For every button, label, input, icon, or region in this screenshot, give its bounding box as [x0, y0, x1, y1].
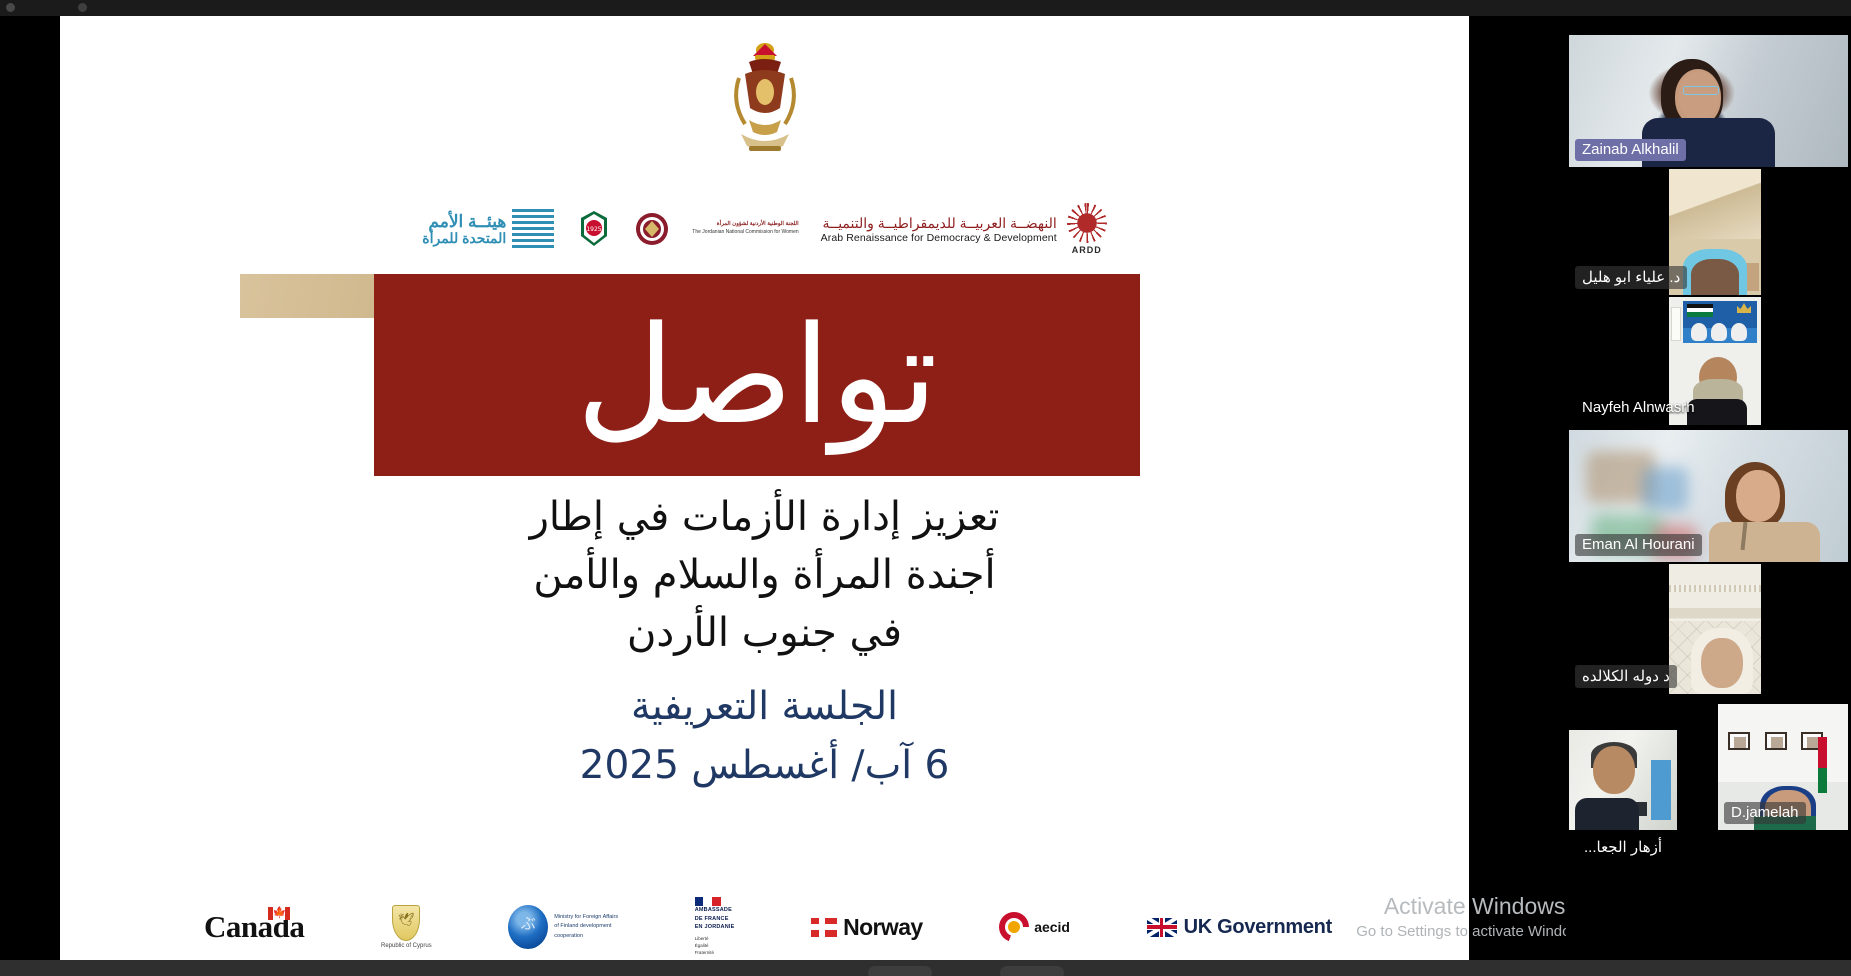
slide-session-block: الجلسة التعريفية 6 آب/ أغسطس 2025	[60, 678, 1469, 795]
window-bottom-chrome	[0, 960, 1851, 976]
avatar-face-highlight	[1678, 71, 1720, 121]
avatar-face	[1736, 470, 1780, 522]
donor-cyprus: Republic of Cyprus	[381, 905, 432, 949]
wall-paper-sheet	[1671, 307, 1681, 341]
participant-name-label: Eman Al Hourani	[1575, 534, 1702, 556]
session-date: 6 آب/ أغسطس 2025	[60, 737, 1469, 796]
canada-flag-icon: 🍁	[268, 907, 290, 920]
jordan-seal-logo: 1925	[576, 210, 612, 248]
background-panel	[1651, 760, 1671, 820]
poster-portrait-1	[1691, 323, 1707, 341]
taskbar-pill-right[interactable]	[1000, 966, 1064, 976]
france-line-3: EN JORDANIE	[695, 923, 735, 932]
ardd-acronym: ARDD	[1067, 245, 1107, 255]
ardd-sun-icon	[1067, 203, 1107, 243]
france-flag-icon	[695, 897, 721, 906]
donor-finland-dev: Ministry for Foreign Affairs of Finland …	[508, 905, 618, 949]
donor-cyprus-caption: Republic of Cyprus	[381, 943, 432, 949]
donor-logo-strip: Canada 🍁 Republic of Cyprus M	[178, 896, 1358, 958]
jordan-royal-coat-of-arms-icon	[719, 38, 811, 156]
finland-dev-mark-icon	[508, 905, 548, 949]
cyprus-shield-icon	[392, 905, 420, 941]
participant-rail[interactable]: Zainab Alkhalil د. علياء ابو هليل	[1566, 32, 1851, 976]
un-women-logo: هيئــة الأمم المتحدة للمرأة	[422, 209, 554, 249]
donor-canada: Canada 🍁	[204, 909, 304, 945]
jncw-english-name: The Jordanian National Commission for Wo…	[692, 229, 798, 236]
participant-tile-jamelah[interactable]: D.jamelah	[1718, 704, 1848, 830]
avatar-face	[1691, 259, 1739, 295]
jncw-arabic-name: اللجنة الوطنية الأردنية لشؤون المرأة	[692, 221, 798, 229]
un-women-label-line2: المتحدة للمرأة	[422, 231, 506, 247]
un-women-mark-icon	[512, 209, 554, 249]
participant-tile-dawla[interactable]: د دوله الكلالده	[1569, 564, 1848, 694]
ardd-logo: النهضــة العربيــة للديمقراطيــة والتنمي…	[821, 203, 1107, 255]
donor-uk-label: UK Government	[1184, 916, 1332, 939]
slide-headline: تعزيز إدارة الأزمات في إطار أجندة المرأة…	[240, 488, 1289, 662]
poster-crown-icon	[1737, 303, 1751, 313]
avatar-body	[1575, 798, 1639, 830]
participant-tile-azhar[interactable]	[1569, 730, 1677, 830]
headline-line-3: في جنوب الأردن	[240, 604, 1289, 662]
wall-moulding	[1669, 585, 1761, 592]
participant-name-label: Zainab Alkhalil	[1575, 139, 1686, 161]
slide-hero-banner: تواصل	[240, 274, 1140, 476]
avatar-glasses	[1683, 86, 1719, 95]
shared-slide[interactable]: هيئــة الأمم المتحدة للمرأة 1925	[60, 16, 1469, 960]
ardd-arabic-name: النهضــة العربيــة للديمقراطيــة والتنمي…	[821, 215, 1057, 232]
participant-tile-zainab[interactable]: Zainab Alkhalil	[1569, 35, 1848, 167]
session-title: الجلسة التعريفية	[60, 678, 1469, 737]
wall-poster	[1683, 301, 1757, 343]
finland-line-3: cooperation	[554, 932, 618, 941]
background-blur-2	[1642, 467, 1688, 511]
donor-norway: Norway	[811, 914, 922, 941]
finland-line-2: of Finland development	[554, 922, 618, 931]
meeting-stage: هيئــة الأمم المتحدة للمرأة 1925	[0, 16, 1851, 960]
participant-name-label: D.jamelah	[1724, 802, 1806, 824]
france-line-1: AMBASSADE	[695, 906, 735, 915]
participant-tile-nayfeh[interactable]: Nayfeh Alnwasrh	[1569, 297, 1848, 425]
union-jack-icon	[1147, 918, 1177, 937]
taskbar-pill-left[interactable]	[868, 966, 932, 976]
window-top-chrome	[0, 0, 1851, 16]
wall-frame-2	[1765, 732, 1787, 750]
jordan-flag-icon	[1687, 304, 1713, 317]
video-feed	[1669, 564, 1761, 694]
jordan-seal-icon: 1925	[576, 210, 612, 248]
finland-line-1: Ministry for Foreign Affairs	[554, 913, 618, 922]
jncw-text-logo: اللجنة الوطنية الأردنية لشؤون المرأة The…	[692, 221, 798, 236]
donor-aecid: aecid	[999, 912, 1070, 942]
partner-logo-row: هيئــة الأمم المتحدة للمرأة 1925	[60, 194, 1469, 264]
donor-aecid-label: aecid	[1034, 919, 1070, 935]
un-women-label-line1: هيئــة الأمم	[428, 212, 506, 231]
participant-tile-alya[interactable]: د. علياء ابو هليل	[1569, 169, 1848, 295]
poster-portrait-3	[1731, 323, 1747, 341]
participant-name-label-azhar: أزهار الجعا...	[1584, 838, 1662, 856]
hero-arabic-wordmark: تواصل	[374, 274, 1140, 476]
poster-portrait-2	[1711, 323, 1727, 341]
browser-dot-right-icon	[78, 3, 87, 12]
donor-france: AMBASSADE DE FRANCE EN JORDANIE Liberté …	[695, 897, 735, 956]
jordan-seal-year: 1925	[587, 226, 602, 233]
aecid-mark-icon	[999, 912, 1029, 942]
avatar-body	[1709, 522, 1821, 562]
participant-name-label: د. علياء ابو هليل	[1575, 266, 1687, 289]
meeting-window: هيئــة الأمم المتحدة للمرأة 1925	[0, 0, 1851, 976]
headline-line-1: تعزيز إدارة الأزمات في إطار	[240, 488, 1289, 546]
browser-dot-left-icon	[6, 3, 15, 12]
ardd-english-name: Arab Renaissance for Democracy & Develop…	[821, 232, 1057, 244]
jordan-flag-icon	[1818, 737, 1827, 793]
donor-uk-government: UK Government	[1147, 916, 1332, 939]
france-line-2: DE FRANCE	[695, 915, 735, 924]
avatar-face	[1593, 746, 1635, 794]
participant-name-label: Nayfeh Alnwasrh	[1575, 397, 1702, 419]
donor-norway-label: Norway	[843, 914, 922, 941]
headline-line-2: أجندة المرأة والسلام والأمن	[240, 546, 1289, 604]
jncw-seal-logo	[634, 210, 670, 248]
norway-flag-icon	[811, 918, 837, 937]
avatar-face	[1701, 638, 1743, 688]
jncw-seal-icon	[634, 210, 670, 248]
avatar-background	[1669, 169, 1761, 239]
wall-frame-1	[1728, 732, 1750, 750]
france-motto-2: Égalité	[695, 942, 735, 949]
participant-name-label: د دوله الكلالده	[1575, 665, 1677, 688]
france-motto-3: Fraternité	[695, 949, 735, 956]
participant-tile-eman[interactable]: Eman Al Hourani	[1569, 430, 1848, 562]
france-motto-1: Liberté	[695, 935, 735, 942]
